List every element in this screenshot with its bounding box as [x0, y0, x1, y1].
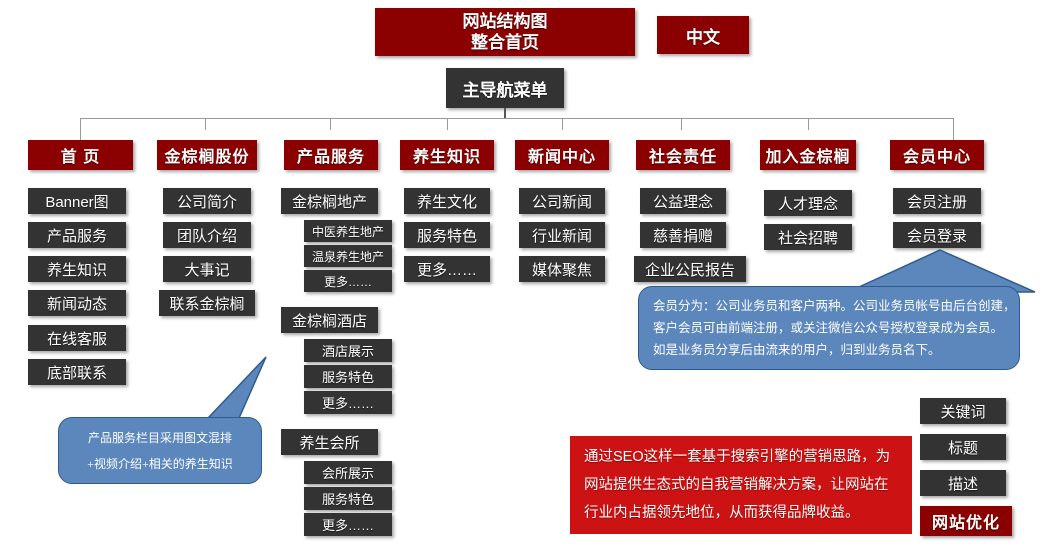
- sitemap-diagram: 网站结构图 整合首页 中文 主导航菜单 首 页 Banner图 产品服务 养生知…: [0, 0, 1062, 552]
- seo-note-line-3: 行业内占据领先地位，从而获得品牌收益。: [584, 499, 898, 527]
- item-member-login[interactable]: 会员登录: [893, 222, 981, 248]
- callout-product-line-2: +视频介绍+相关的养生知识: [73, 451, 247, 477]
- sub-club-features[interactable]: 服务特色: [304, 487, 392, 510]
- sub-hotel-more[interactable]: 更多……: [304, 391, 392, 414]
- item-support[interactable]: 在线客服: [28, 325, 126, 351]
- seo-note-line-1: 通过SEO这样一套基于搜索引擎的营销思路，为: [584, 443, 898, 471]
- connector-drop-3: [330, 118, 331, 130]
- connector-bus: [80, 118, 954, 119]
- connector-drop-1: [80, 118, 81, 140]
- connector-drop-4: [447, 118, 448, 130]
- item-products[interactable]: 产品服务: [28, 222, 126, 248]
- item-health-culture[interactable]: 养生文化: [404, 188, 490, 214]
- column-head-member-center[interactable]: 会员中心: [890, 140, 984, 170]
- item-news[interactable]: 新闻动态: [28, 290, 126, 316]
- sub-realestate-tcm[interactable]: 中医养生地产: [304, 220, 392, 242]
- sub-club-display[interactable]: 会所展示: [304, 461, 392, 484]
- diagram-title-line1: 网站结构图: [463, 11, 548, 32]
- column-head-social-responsibility[interactable]: 社会责任: [636, 140, 730, 170]
- diagram-title: 网站结构图 整合首页: [375, 8, 635, 56]
- connector-drop-2: [205, 118, 206, 130]
- group-realestate[interactable]: 金棕榈地产: [281, 188, 378, 214]
- sub-club-more[interactable]: 更多……: [304, 513, 392, 536]
- connector-drop-6: [681, 118, 682, 130]
- item-member-register[interactable]: 会员注册: [893, 188, 981, 214]
- item-public-welfare[interactable]: 公益理念: [640, 188, 726, 214]
- column-head-product-service[interactable]: 产品服务: [284, 140, 378, 170]
- column-head-news-center[interactable]: 新闻中心: [515, 140, 609, 170]
- column-head-health-knowledge[interactable]: 养生知识: [400, 140, 494, 170]
- item-banner[interactable]: Banner图: [28, 188, 126, 214]
- item-company-news[interactable]: 公司新闻: [519, 188, 605, 214]
- diagram-title-line2: 整合首页: [471, 32, 539, 53]
- item-health[interactable]: 养生知识: [28, 256, 126, 282]
- callout-member-line-1: 会员分为：公司业务员和客户两种。公司业务员帐号由后台创建，: [653, 295, 1005, 317]
- item-health-more[interactable]: 更多……: [404, 256, 490, 282]
- callout-member-line-2: 客户会员可由前端注册，或关注微信公众号授权登录成为会员。: [653, 317, 1005, 339]
- main-nav-box[interactable]: 主导航菜单: [446, 68, 564, 108]
- seo-item-description[interactable]: 描述: [920, 470, 1006, 496]
- connector-drop-7: [808, 118, 809, 130]
- item-milestones[interactable]: 大事记: [163, 256, 251, 282]
- item-footer-contact[interactable]: 底部联系: [28, 359, 126, 385]
- seo-note-line-2: 网站提供生态式的自我营销解决方案，让网站在: [584, 471, 898, 499]
- item-contact-company[interactable]: 联系金棕榈: [159, 290, 255, 316]
- item-charity-donation[interactable]: 慈善捐赠: [640, 222, 726, 248]
- callout-member: 会员分为：公司业务员和客户两种。公司业务员帐号由后台创建， 客户会员可由前端注册…: [638, 286, 1020, 370]
- item-industry-news[interactable]: 行业新闻: [519, 222, 605, 248]
- callout-product: 产品服务栏目采用图文混排 +视频介绍+相关的养生知识: [58, 417, 262, 484]
- connector-drop-5: [562, 118, 563, 130]
- item-health-features[interactable]: 服务特色: [404, 222, 490, 248]
- sub-hotel-features[interactable]: 服务特色: [304, 365, 392, 388]
- group-club[interactable]: 养生会所: [281, 429, 378, 455]
- sub-realestate-more[interactable]: 更多……: [304, 270, 392, 292]
- callout-product-line-1: 产品服务栏目采用图文混排: [73, 425, 247, 451]
- group-hotel[interactable]: 金棕榈酒店: [281, 307, 378, 333]
- item-talent-philosophy[interactable]: 人才理念: [764, 190, 852, 216]
- item-media-focus[interactable]: 媒体聚焦: [519, 256, 605, 282]
- language-badge[interactable]: 中文: [657, 16, 749, 54]
- sub-realestate-hotspring[interactable]: 温泉养生地产: [304, 245, 392, 267]
- sub-hotel-display[interactable]: 酒店展示: [304, 339, 392, 362]
- seo-note: 通过SEO这样一套基于搜索引擎的营销思路，为 网站提供生态式的自我营销解决方案，…: [570, 436, 912, 534]
- item-citizen-report[interactable]: 企业公民报告: [634, 256, 746, 282]
- seo-footer-optimization[interactable]: 网站优化: [920, 506, 1012, 536]
- seo-item-title[interactable]: 标题: [920, 434, 1006, 460]
- connector-drop-8: [953, 118, 954, 140]
- seo-item-keywords[interactable]: 关键词: [920, 398, 1006, 424]
- item-recruitment[interactable]: 社会招聘: [764, 224, 852, 250]
- item-company-intro[interactable]: 公司简介: [163, 188, 251, 214]
- item-team-intro[interactable]: 团队介绍: [163, 222, 251, 248]
- column-head-join[interactable]: 加入金棕榈: [760, 140, 856, 170]
- column-head-company[interactable]: 金棕榈股份: [157, 140, 257, 170]
- callout-member-line-3: 如是业务员分享后由流来的用户，归到业务员名下。: [653, 339, 1005, 361]
- column-head-shouye[interactable]: 首 页: [28, 140, 133, 170]
